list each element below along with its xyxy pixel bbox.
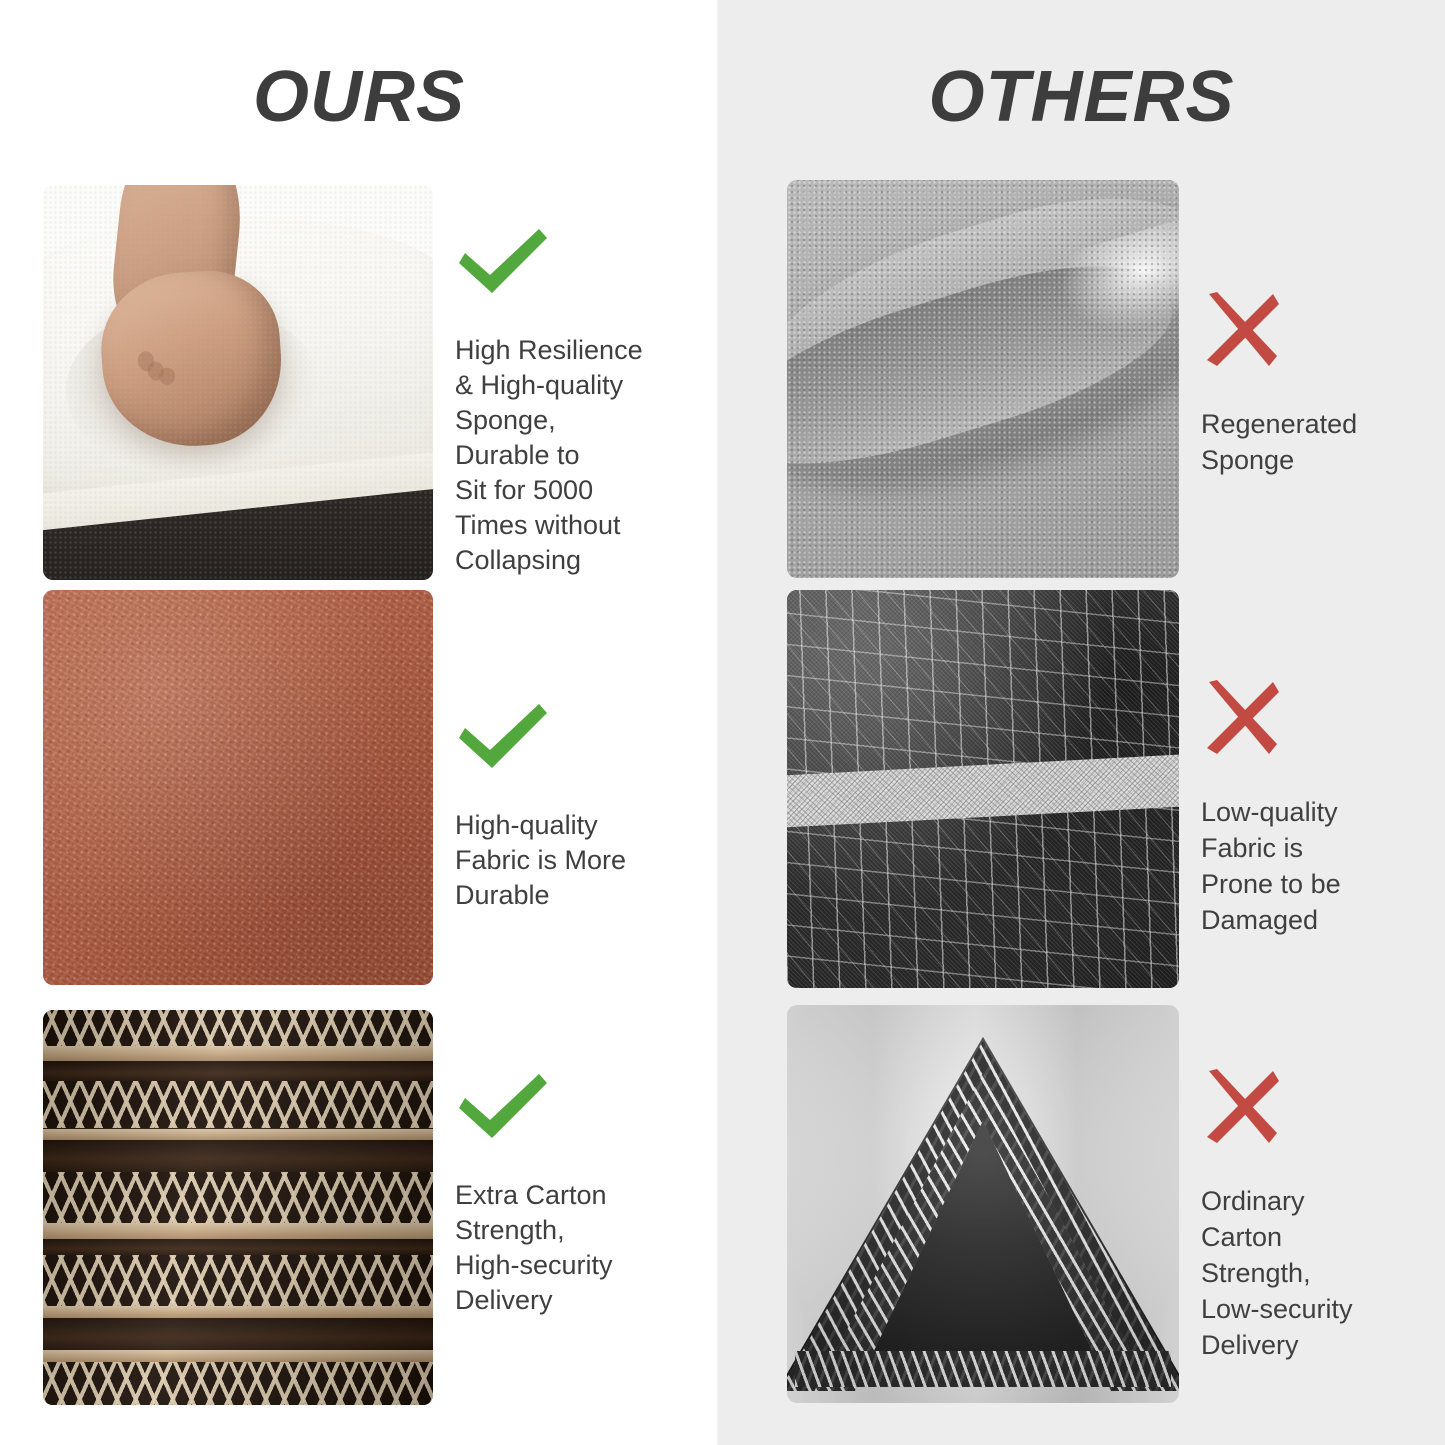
others-row-1: Regenerated Sponge <box>787 180 1427 578</box>
others-heading: OTHERS <box>718 52 1445 142</box>
ordinary-carton-image <box>787 1005 1179 1403</box>
cracked-fabric-image <box>787 590 1179 988</box>
others-item-1-caption: Regenerated Sponge <box>1201 406 1427 478</box>
panel-divider <box>716 0 719 1445</box>
others-item-3-info: Ordinary Carton Strength, Low-security D… <box>1179 1005 1427 1363</box>
ours-item-3-info: Extra Carton Strength, High-security Del… <box>433 1010 703 1318</box>
ours-item-2-caption: High-quality Fabric is More Durable <box>455 808 703 913</box>
red-cross-icon <box>1201 290 1281 370</box>
others-item-2-caption: Low-quality Fabric is Prone to be Damage… <box>1201 794 1427 938</box>
ours-row-2: High-quality Fabric is More Durable <box>43 590 703 985</box>
others-item-2-info: Low-quality Fabric is Prone to be Damage… <box>1179 590 1427 938</box>
red-cross-icon <box>1201 1067 1281 1147</box>
others-row-3: Ordinary Carton Strength, Low-security D… <box>787 1005 1427 1403</box>
foam-fist-image <box>43 185 433 580</box>
green-check-icon <box>455 225 551 297</box>
regenerated-sponge-image <box>787 180 1179 578</box>
ours-item-3-caption: Extra Carton Strength, High-security Del… <box>455 1178 703 1318</box>
ours-item-1-caption: High Resilience & High-quality Sponge, D… <box>455 333 703 578</box>
leather-image <box>43 590 433 985</box>
ours-item-1-info: High Resilience & High-quality Sponge, D… <box>433 185 703 578</box>
ours-row-3: Extra Carton Strength, High-security Del… <box>43 1010 703 1405</box>
others-row-2: Low-quality Fabric is Prone to be Damage… <box>787 590 1427 988</box>
corrugated-carton-image <box>43 1010 433 1405</box>
ours-heading: OURS <box>0 52 718 142</box>
ours-row-1: High Resilience & High-quality Sponge, D… <box>43 185 703 580</box>
others-item-3-caption: Ordinary Carton Strength, Low-security D… <box>1201 1183 1427 1363</box>
others-item-1-info: Regenerated Sponge <box>1179 180 1427 478</box>
red-cross-icon <box>1201 678 1281 758</box>
ours-item-2-info: High-quality Fabric is More Durable <box>433 590 703 913</box>
green-check-icon <box>455 700 551 772</box>
green-check-icon <box>455 1070 551 1142</box>
